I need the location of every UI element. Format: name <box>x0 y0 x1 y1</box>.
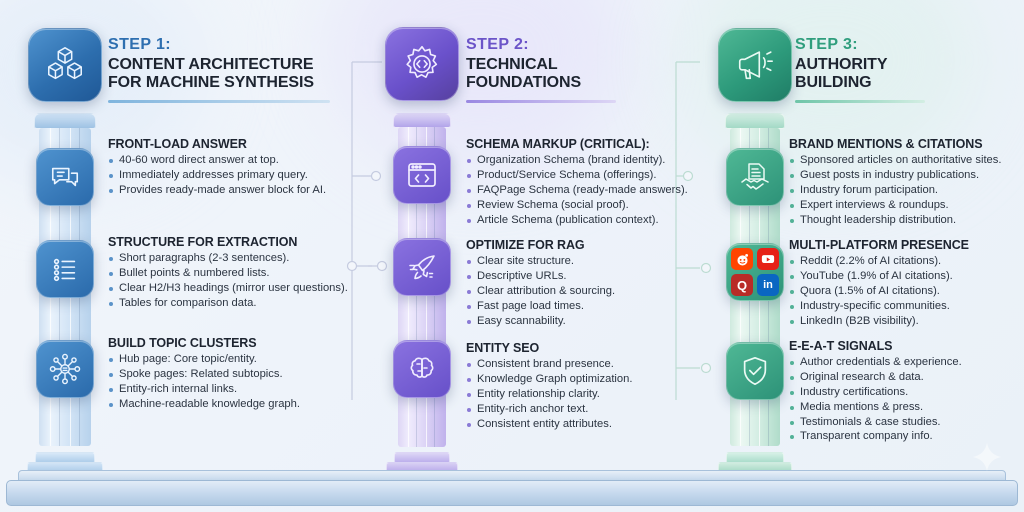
list-item: Short paragraphs (2-3 sentences). <box>108 251 373 266</box>
list-item: Entity-rich anchor text. <box>466 402 706 417</box>
gear-code-icon <box>400 42 444 86</box>
block-list: Author credentials & experience.Original… <box>789 355 1024 444</box>
block-heading: BUILD TOPIC CLUSTERS <box>108 336 373 350</box>
list-item: Bullet points & numbered lists. <box>108 266 373 281</box>
handshake-document-icon <box>738 160 772 194</box>
block-heading: STRUCTURE FOR EXTRACTION <box>108 235 373 249</box>
pillar-1-icon-tile-1[interactable] <box>36 148 94 206</box>
pillar-step-2 <box>362 0 482 512</box>
megaphone-icon <box>734 44 776 86</box>
block-list: Clear site structure.Descriptive URLs.Cl… <box>466 254 706 328</box>
block-heading: SCHEMA MARKUP (CRITICAL): <box>466 137 706 151</box>
block-optimize-for-rag: OPTIMIZE FOR RAG Clear site structure.De… <box>466 238 706 328</box>
list-item: Media mentions & press. <box>789 400 1024 415</box>
list-item: Article Schema (publication context). <box>466 213 706 228</box>
block-heading: MULTI-PLATFORM PRESENCE <box>789 238 1024 252</box>
platform-base-bottom <box>6 480 1018 506</box>
list-item: Clear site structure. <box>466 254 706 269</box>
step-2-label: STEP 2: <box>466 36 686 54</box>
list-item: FAQPage Schema (ready-made answers). <box>466 183 706 198</box>
step-2-title: TECHNICALFOUNDATIONS <box>466 56 686 93</box>
step-2-rule <box>466 100 616 103</box>
social-chip-quora: Q <box>731 274 753 296</box>
brain-icon <box>405 352 439 386</box>
list-item: Entity relationship clarity. <box>466 387 706 402</box>
chat-bubbles-icon <box>49 161 81 193</box>
list-item: Provides ready-made answer block for AI. <box>108 183 368 198</box>
rocket-icon <box>405 250 439 284</box>
bullet-list-icon <box>49 253 81 285</box>
social-chip-linkedin: in <box>757 274 779 296</box>
block-list: 40-60 word direct answer at top.Immediat… <box>108 153 368 198</box>
block-build-topic-clusters: BUILD TOPIC CLUSTERS Hub page: Core topi… <box>108 336 373 412</box>
pillar-3-capital-icon-tile[interactable] <box>718 28 792 102</box>
list-item: Easy scannability. <box>466 314 706 329</box>
block-brand-mentions-citations: BRAND MENTIONS & CITATIONS Sponsored art… <box>789 137 1024 227</box>
list-item: LinkedIn (B2B visibility). <box>789 314 1024 329</box>
list-item: Expert interviews & roundups. <box>789 198 1024 213</box>
step-3-label: STEP 3: <box>795 36 1015 54</box>
pillar-1-icon-tile-2[interactable] <box>36 240 94 298</box>
block-heading: BRAND MENTIONS & CITATIONS <box>789 137 1024 151</box>
list-item: Hub page: Core topic/entity. <box>108 352 373 367</box>
list-item: Industry-specific communities. <box>789 299 1024 314</box>
platform-base <box>0 466 1024 512</box>
pillar-2-icon-tile-3[interactable] <box>393 340 451 398</box>
list-item: Consistent brand presence. <box>466 357 706 372</box>
block-heading: FRONT-LOAD ANSWER <box>108 137 368 151</box>
pillar-2-capital-icon-tile[interactable] <box>385 27 459 101</box>
list-item: Fast page load times. <box>466 299 706 314</box>
sparkle-icon <box>970 441 1004 480</box>
block-heading: ENTITY SEO <box>466 341 706 355</box>
list-item: Quora (1.5% of AI citations). <box>789 284 1024 299</box>
list-item: Author credentials & experience. <box>789 355 1024 370</box>
block-heading: E-E-A-T SIGNALS <box>789 339 1024 353</box>
step-1-rule <box>108 100 330 103</box>
block-structure-for-extraction: STRUCTURE FOR EXTRACTION Short paragraph… <box>108 235 373 311</box>
list-item: Immediately addresses primary query. <box>108 168 368 183</box>
column-step-3: STEP 3: AUTHORITYBUILDING <box>795 36 1015 103</box>
list-item: Knowledge Graph optimization. <box>466 372 706 387</box>
pillar-1-icon-tile-3[interactable] <box>36 340 94 398</box>
list-item: Machine-readable knowledge graph. <box>108 397 373 412</box>
block-list: Consistent brand presence.Knowledge Grap… <box>466 357 706 431</box>
list-item: Product/Service Schema (offerings). <box>466 168 706 183</box>
step-1-label: STEP 1: <box>108 36 358 54</box>
network-hub-icon <box>48 352 82 386</box>
step-3-rule <box>795 100 925 103</box>
step-title-line: CONTENT ARCHITECTURE <box>108 56 358 75</box>
list-item: Industry certifications. <box>789 385 1024 400</box>
step-title-line: TECHNICAL <box>466 56 686 75</box>
pillar-3-icon-tile-3[interactable] <box>726 342 784 400</box>
list-item: Spoke pages: Related subtopics. <box>108 367 373 382</box>
pillar-3-capital <box>725 113 785 129</box>
list-item: Industry forum participation. <box>789 183 1024 198</box>
list-item: Thought leadership distribution. <box>789 213 1024 228</box>
browser-code-icon <box>405 158 439 192</box>
pillar-2-icon-tile-1[interactable] <box>393 146 451 204</box>
social-chip-youtube <box>757 248 779 270</box>
list-item: Review Schema (social proof). <box>466 198 706 213</box>
block-eeat-signals: E-E-A-T SIGNALS Author credentials & exp… <box>789 339 1024 444</box>
column-step-1: STEP 1: CONTENT ARCHITECTUREFOR MACHINE … <box>108 36 358 103</box>
infographic-canvas: Q in STEP 1: CONTENT ARCHITECTUREFOR MAC… <box>0 0 1024 512</box>
step-title-line: FOUNDATIONS <box>466 74 686 93</box>
step-title-line: FOR MACHINE SYNTHESIS <box>108 74 358 93</box>
social-chip-reddit <box>731 248 753 270</box>
pillar-3-icon-tile-2[interactable]: Q in <box>726 243 784 301</box>
block-list: Organization Schema (brand identity).Pro… <box>466 153 706 227</box>
list-item: Entity-rich internal links. <box>108 382 373 397</box>
list-item: Clear H2/H3 headings (mirror user questi… <box>108 281 373 296</box>
block-multi-platform-presence: MULTI-PLATFORM PRESENCE Reddit (2.2% of … <box>789 238 1024 328</box>
block-list: Sponsored articles on authoritative site… <box>789 153 1024 227</box>
list-item: Descriptive URLs. <box>466 269 706 284</box>
list-item: Sponsored articles on authoritative site… <box>789 153 1024 168</box>
social-platforms-icon: Q in <box>731 248 779 296</box>
step-title-line: AUTHORITY <box>795 56 1015 75</box>
pillar-2-capital <box>393 113 451 128</box>
block-list: Hub page: Core topic/entity.Spoke pages:… <box>108 352 373 412</box>
block-entity-seo: ENTITY SEO Consistent brand presence.Kno… <box>466 341 706 431</box>
list-item: Reddit (2.2% of AI citations). <box>789 254 1024 269</box>
block-list: Reddit (2.2% of AI citations).YouTube (1… <box>789 254 1024 328</box>
list-item: 40-60 word direct answer at top. <box>108 153 368 168</box>
step-1-title: CONTENT ARCHITECTUREFOR MACHINE SYNTHESI… <box>108 56 358 93</box>
pillar-3-icon-tile-1[interactable] <box>726 148 784 206</box>
block-list: Short paragraphs (2-3 sentences).Bullet … <box>108 251 373 311</box>
cubes-icon <box>44 44 86 86</box>
pillar-1-capital <box>34 113 96 129</box>
list-item: Testimonials & case studies. <box>789 415 1024 430</box>
list-item: Guest posts in industry publications. <box>789 168 1024 183</box>
shield-check-icon <box>739 355 771 387</box>
column-step-2: STEP 2: TECHNICALFOUNDATIONS <box>466 36 686 103</box>
block-schema-markup: SCHEMA MARKUP (CRITICAL): Organization S… <box>466 137 706 227</box>
pillar-1-capital-icon-tile[interactable] <box>28 28 102 102</box>
list-item: Clear attribution & sourcing. <box>466 284 706 299</box>
step-3-title: AUTHORITYBUILDING <box>795 56 1015 93</box>
list-item: Consistent entity attributes. <box>466 417 706 432</box>
block-heading: OPTIMIZE FOR RAG <box>466 238 706 252</box>
list-item: Organization Schema (brand identity). <box>466 153 706 168</box>
list-item: Tables for comparison data. <box>108 296 373 311</box>
list-item: Original research & data. <box>789 370 1024 385</box>
list-item: YouTube (1.9% of AI citations). <box>789 269 1024 284</box>
pillar-2-icon-tile-2[interactable] <box>393 238 451 296</box>
step-title-line: BUILDING <box>795 74 1015 93</box>
block-front-load-answer: FRONT-LOAD ANSWER 40-60 word direct answ… <box>108 137 368 198</box>
